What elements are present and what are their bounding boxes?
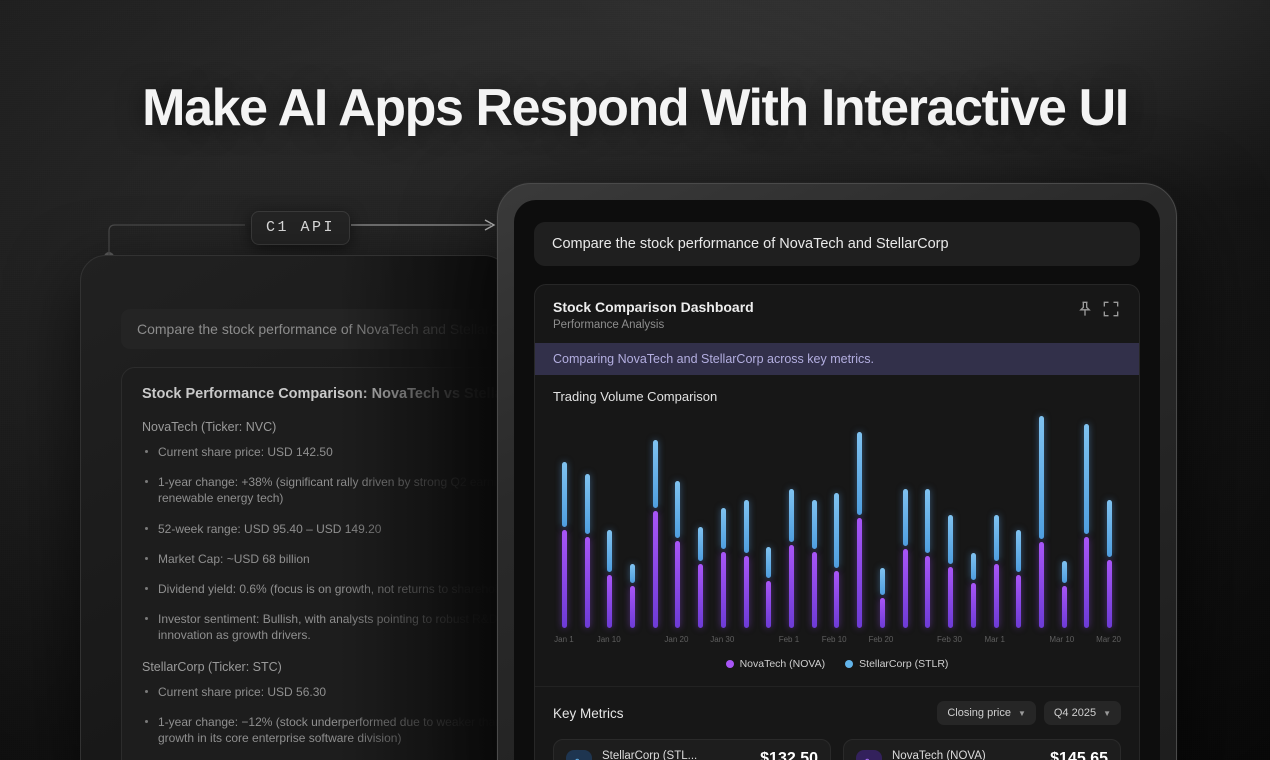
bar-segment-novatech xyxy=(630,586,635,628)
chart-bar xyxy=(1030,416,1053,628)
metric-card[interactable]: StellarCorp (STL...Volume Traded:$132.50… xyxy=(553,739,831,760)
x-axis-tick xyxy=(800,635,822,644)
list-item: Current share price: USD 56.30 xyxy=(142,684,510,700)
bar-segment-stellarcorp xyxy=(744,500,749,553)
x-axis-tick xyxy=(688,635,710,644)
x-axis-tick: Feb 1 xyxy=(778,635,800,644)
bar-segment-stellarcorp xyxy=(585,474,590,535)
bar-segment-stellarcorp xyxy=(1107,500,1112,557)
metric-select-value: Closing price xyxy=(947,707,1011,719)
bar-segment-stellarcorp xyxy=(1084,424,1089,534)
bar-segment-stellarcorp xyxy=(721,508,726,550)
bar-segment-novatech xyxy=(857,518,862,628)
chart-bar xyxy=(1076,416,1099,628)
bar-segment-novatech xyxy=(880,598,885,628)
x-axis-tick: Mar 1 xyxy=(984,635,1006,644)
dashboard-title: Stock Comparison Dashboard xyxy=(553,299,1069,315)
bar-segment-novatech xyxy=(789,545,794,628)
key-metrics-label: Key Metrics xyxy=(553,706,929,721)
back-nova-heading: NovaTech (Ticker: NVC) xyxy=(142,420,510,434)
list-item: Investor sentiment: Bullish, with analys… xyxy=(142,611,510,643)
x-axis-tick xyxy=(915,635,937,644)
bar-segment-novatech xyxy=(994,564,999,628)
chart-bar xyxy=(780,416,803,628)
back-card-title: Stock Performance Comparison: NovaTech v… xyxy=(142,386,510,402)
bar-segment-stellarcorp xyxy=(653,440,658,508)
legend-label: StellarCorp (STLR) xyxy=(859,658,948,670)
bar-segment-stellarcorp xyxy=(834,493,839,569)
metric-card-name: NovaTech (NOVA) xyxy=(892,750,1021,760)
chart-bar xyxy=(894,416,917,628)
back-prompt-input[interactable]: Compare the stock performance of NovaTec… xyxy=(121,309,510,349)
period-select-value: Q4 2025 xyxy=(1054,707,1096,719)
chart-bar xyxy=(917,416,940,628)
bar-segment-novatech xyxy=(1084,537,1089,628)
chart-x-axis: Jan 1Jan 10Jan 20Jan 30Feb 1Feb 10Feb 20… xyxy=(553,635,1121,644)
bar-segment-novatech xyxy=(925,556,930,628)
bar-segment-novatech xyxy=(971,583,976,628)
x-axis-tick: Feb 10 xyxy=(822,635,847,644)
chart-bar xyxy=(735,416,758,628)
bar-segment-stellarcorp xyxy=(857,432,862,515)
bar-segment-stellarcorp xyxy=(766,547,771,577)
bar-segment-stellarcorp xyxy=(1016,530,1021,572)
chevron-down-icon: ▼ xyxy=(1018,709,1026,718)
bar-segment-stellarcorp xyxy=(630,564,635,583)
chart-bar xyxy=(598,416,621,628)
x-axis-tick: Feb 20 xyxy=(868,635,893,644)
bar-segment-novatech xyxy=(903,549,908,629)
back-stellar-bullets: Current share price: USD 56.301-year cha… xyxy=(142,684,510,760)
metric-card-price: $145.65 xyxy=(1031,750,1108,760)
chart-section: Trading Volume Comparison Jan 1Jan 10Jan… xyxy=(535,375,1139,686)
x-axis-tick xyxy=(1006,635,1028,644)
x-axis-tick: Mar 20 xyxy=(1096,635,1121,644)
metric-select[interactable]: Closing price ▼ xyxy=(937,701,1036,725)
stellarcorp-icon xyxy=(566,750,592,760)
trading-volume-chart xyxy=(553,416,1121,628)
bar-segment-novatech xyxy=(607,575,612,628)
tablet-screen: Compare the stock performance of NovaTec… xyxy=(514,200,1160,760)
x-axis-tick xyxy=(621,635,643,644)
x-axis-tick: Jan 30 xyxy=(710,635,734,644)
key-metrics-row: Key Metrics Closing price ▼ Q4 2025 ▼ xyxy=(535,686,1139,735)
list-item: Market Cap: ~USD 68 billion xyxy=(142,551,510,567)
metric-cards: StellarCorp (STL...Volume Traded:$132.50… xyxy=(535,735,1139,760)
stock-dashboard-card: Stock Comparison Dashboard Performance A… xyxy=(534,284,1140,760)
x-axis-tick xyxy=(847,635,869,644)
tablet-device: Compare the stock performance of NovaTec… xyxy=(497,183,1177,760)
x-axis-tick xyxy=(962,635,984,644)
dashboard-subtitle: Performance Analysis xyxy=(553,319,1069,331)
bar-segment-novatech xyxy=(1039,542,1044,628)
bar-segment-novatech xyxy=(562,530,567,628)
metric-card[interactable]: NovaTech (NOVA)Volume Traded:$145.65▲ $0… xyxy=(843,739,1121,760)
chart-bar xyxy=(667,416,690,628)
metric-card-name: StellarCorp (STL... xyxy=(602,750,731,760)
fullscreen-icon[interactable] xyxy=(1101,299,1121,319)
legend-item[interactable]: StellarCorp (STLR) xyxy=(845,658,948,670)
bar-segment-novatech xyxy=(834,571,839,628)
bar-segment-novatech xyxy=(1107,560,1112,628)
bar-segment-novatech xyxy=(653,511,658,628)
chart-bar xyxy=(985,416,1008,628)
chart-bar xyxy=(848,416,871,628)
chart-bar xyxy=(757,416,780,628)
list-item: Current share price: USD 142.50 xyxy=(142,444,510,460)
chart-bar xyxy=(962,416,985,628)
bar-segment-novatech xyxy=(744,556,749,628)
legend-dot xyxy=(726,660,734,668)
bar-segment-stellarcorp xyxy=(1039,416,1044,539)
chevron-down-icon: ▼ xyxy=(1103,709,1111,718)
bar-segment-stellarcorp xyxy=(971,553,976,580)
bar-segment-novatech xyxy=(585,537,590,628)
chart-bar xyxy=(871,416,894,628)
bar-segment-novatech xyxy=(1016,575,1021,628)
back-nova-bullets: Current share price: USD 142.501-year ch… xyxy=(142,444,510,644)
x-axis-tick xyxy=(893,635,915,644)
chart-bar xyxy=(803,416,826,628)
bar-segment-stellarcorp xyxy=(607,530,612,572)
chart-bar xyxy=(553,416,576,628)
period-select[interactable]: Q4 2025 ▼ xyxy=(1044,701,1121,725)
bar-segment-stellarcorp xyxy=(675,481,680,538)
bar-segment-novatech xyxy=(675,541,680,628)
metric-card-price: $132.50 xyxy=(741,750,818,760)
chart-bar xyxy=(1007,416,1030,628)
dashboard-header: Stock Comparison Dashboard Performance A… xyxy=(535,285,1139,343)
chart-bar xyxy=(576,416,599,628)
legend-label: NovaTech (NOVA) xyxy=(740,658,826,670)
x-axis-tick xyxy=(734,635,756,644)
bar-segment-novatech xyxy=(812,552,817,628)
bar-segment-novatech xyxy=(698,564,703,628)
bar-segment-stellarcorp xyxy=(698,527,703,561)
connector-path-left xyxy=(109,225,245,257)
prompt-input[interactable]: Compare the stock performance of NovaTec… xyxy=(534,222,1140,266)
chart-title: Trading Volume Comparison xyxy=(553,389,1121,404)
chart-bar xyxy=(1053,416,1076,628)
x-axis-tick xyxy=(575,635,597,644)
bar-segment-stellarcorp xyxy=(994,515,999,560)
chart-bar xyxy=(712,416,735,628)
list-item: 52-week range: USD 95.40 – USD 149.20 xyxy=(142,521,510,537)
chart-bar xyxy=(621,416,644,628)
legend-item[interactable]: NovaTech (NOVA) xyxy=(726,658,826,670)
c1-api-badge: C1 API xyxy=(251,211,350,245)
bar-segment-stellarcorp xyxy=(948,515,953,564)
chart-bar xyxy=(939,416,962,628)
pin-icon[interactable] xyxy=(1075,299,1095,319)
bar-segment-novatech xyxy=(766,581,771,628)
x-axis-tick xyxy=(1074,635,1096,644)
bar-segment-stellarcorp xyxy=(880,568,885,595)
bar-segment-stellarcorp xyxy=(903,489,908,546)
x-axis-tick: Jan 20 xyxy=(664,635,688,644)
background-chat-panel: Compare the stock performance of NovaTec… xyxy=(80,255,510,760)
bar-segment-novatech xyxy=(721,552,726,628)
page-headline: Make AI Apps Respond With Interactive UI xyxy=(0,78,1270,138)
chart-bar xyxy=(1098,416,1121,628)
chart-bar xyxy=(826,416,849,628)
bar-segment-stellarcorp xyxy=(789,489,794,542)
back-answer-card: Stock Performance Comparison: NovaTech v… xyxy=(121,367,510,760)
chart-bar xyxy=(689,416,712,628)
x-axis-tick xyxy=(756,635,778,644)
list-item: 1-year change: −12% (stock underperforme… xyxy=(142,714,510,746)
legend-dot xyxy=(845,660,853,668)
list-item: 1-year change: +38% (significant rally d… xyxy=(142,474,510,506)
x-axis-tick: Mar 10 xyxy=(1049,635,1074,644)
back-stellar-heading: StellarCorp (Ticker: STC) xyxy=(142,660,510,674)
novatech-icon xyxy=(856,750,882,760)
bar-segment-novatech xyxy=(1062,586,1067,628)
x-axis-tick: Jan 1 xyxy=(553,635,575,644)
bar-segment-stellarcorp xyxy=(812,500,817,549)
bar-segment-novatech xyxy=(948,567,953,628)
list-item: Dividend yield: 0.6% (focus is on growth… xyxy=(142,581,510,597)
x-axis-tick xyxy=(643,635,665,644)
chart-bar xyxy=(644,416,667,628)
bar-segment-stellarcorp xyxy=(562,462,567,526)
dashboard-banner: Comparing NovaTech and StellarCorp acros… xyxy=(535,343,1139,375)
x-axis-tick xyxy=(1027,635,1049,644)
bar-segment-stellarcorp xyxy=(925,489,930,553)
chart-legend: NovaTech (NOVA)StellarCorp (STLR) xyxy=(553,658,1121,676)
x-axis-tick: Feb 30 xyxy=(937,635,962,644)
bar-segment-stellarcorp xyxy=(1062,561,1067,584)
x-axis-tick: Jan 10 xyxy=(597,635,621,644)
